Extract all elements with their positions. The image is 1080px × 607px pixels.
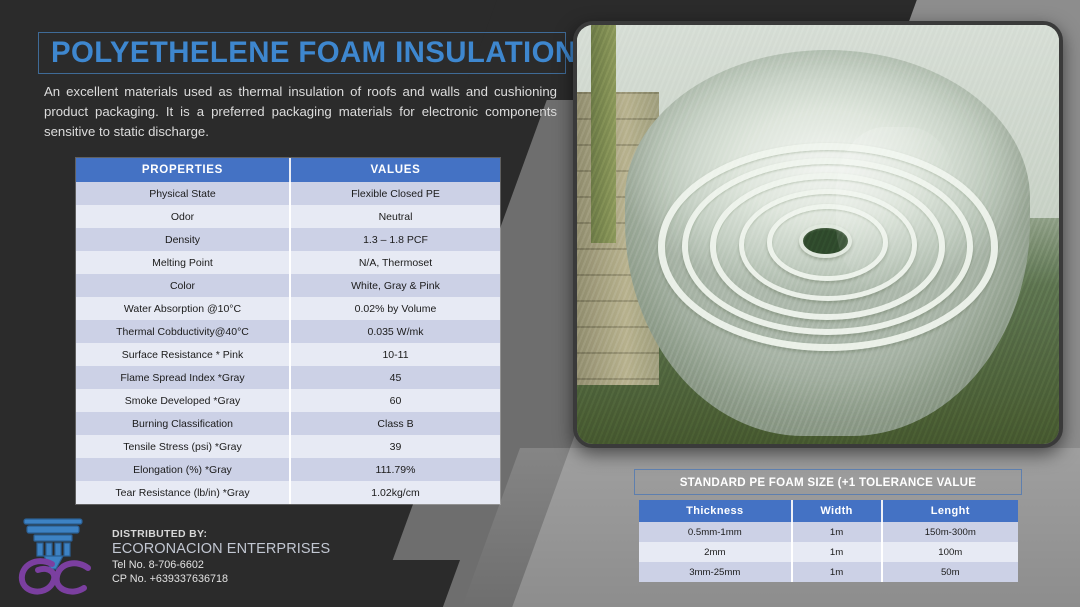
property-value: 39 bbox=[290, 435, 500, 458]
mobile-number: CP No. +639337636718 bbox=[112, 573, 330, 585]
size-table-header-row: Thickness Width Lenght bbox=[639, 500, 1018, 522]
table-row: Thermal Cobductivity@40°C0.035 W/mk bbox=[76, 320, 500, 343]
thickness-value: 2mm bbox=[639, 542, 792, 562]
table-row: ColorWhite, Gray & Pink bbox=[76, 274, 500, 297]
property-value: Flexible Closed PE bbox=[290, 182, 500, 205]
property-value: 1.3 – 1.8 PCF bbox=[290, 228, 500, 251]
table-row: 3mm-25mm1m50m bbox=[639, 562, 1018, 582]
property-name: Density bbox=[76, 228, 290, 251]
width-value: 1m bbox=[792, 562, 882, 582]
properties-table: PROPERTIES VALUES Physical StateFlexible… bbox=[76, 158, 500, 504]
property-name: Elongation (%) *Gray bbox=[76, 458, 290, 481]
length-value: 50m bbox=[882, 562, 1018, 582]
property-value: Class B bbox=[290, 412, 500, 435]
page-title-box: POLYETHELENE FOAM INSULATION bbox=[38, 32, 566, 74]
length-value: 100m bbox=[882, 542, 1018, 562]
standard-size-table: Thickness Width Lenght 0.5mm-1mm1m150m-3… bbox=[639, 500, 1018, 582]
table-row: Tear Resistance (lb/in) *Gray1.02kg/cm bbox=[76, 481, 500, 504]
slide-root: POLYETHELENE FOAM INSULATION An excellen… bbox=[0, 0, 1080, 607]
property-name: Flame Spread Index *Gray bbox=[76, 366, 290, 389]
table-row: 0.5mm-1mm1m150m-300m bbox=[639, 522, 1018, 542]
property-name: Color bbox=[76, 274, 290, 297]
length-col-header: Lenght bbox=[882, 500, 1018, 522]
table-row: Water Absorption @10°C0.02% by Volume bbox=[76, 297, 500, 320]
company-name: ECORONACION ENTERPRISES bbox=[112, 541, 330, 557]
size-table-heading-box: STANDARD PE FOAM SIZE (+1 TOLERANCE VALU… bbox=[634, 469, 1022, 495]
property-value: 111.79% bbox=[290, 458, 500, 481]
ecoronacion-logo-icon bbox=[14, 512, 98, 598]
table-row: Flame Spread Index *Gray45 bbox=[76, 366, 500, 389]
table-row: Surface Resistance * Pink10-11 bbox=[76, 343, 500, 366]
property-name: Smoke Developed *Gray bbox=[76, 389, 290, 412]
property-value: 0.02% by Volume bbox=[290, 297, 500, 320]
property-name: Melting Point bbox=[76, 251, 290, 274]
property-name: Surface Resistance * Pink bbox=[76, 343, 290, 366]
values-col-header: VALUES bbox=[290, 158, 500, 182]
property-value: 10-11 bbox=[290, 343, 500, 366]
property-value: Neutral bbox=[290, 205, 500, 228]
property-name: Tear Resistance (lb/in) *Gray bbox=[76, 481, 290, 504]
thickness-col-header: Thickness bbox=[639, 500, 792, 522]
intro-paragraph: An excellent materials used as thermal i… bbox=[44, 82, 557, 143]
table-row: Tensile Stress (psi) *Gray39 bbox=[76, 435, 500, 458]
page-title: POLYETHELENE FOAM INSULATION bbox=[51, 36, 577, 70]
table-row: Melting PointN/A, Thermoset bbox=[76, 251, 500, 274]
footer-text-block: DISTRIBUTED BY: ECORONACION ENTERPRISES … bbox=[112, 512, 330, 598]
property-name: Odor bbox=[76, 205, 290, 228]
property-value: 60 bbox=[290, 389, 500, 412]
product-photo-panel bbox=[573, 21, 1063, 448]
telephone-number: Tel No. 8-706-6602 bbox=[112, 559, 330, 571]
table-row: 2mm1m100m bbox=[639, 542, 1018, 562]
table-row: Smoke Developed *Gray60 bbox=[76, 389, 500, 412]
property-value: 0.035 W/mk bbox=[290, 320, 500, 343]
width-value: 1m bbox=[792, 542, 882, 562]
table-row: Burning ClassificationClass B bbox=[76, 412, 500, 435]
thickness-value: 0.5mm-1mm bbox=[639, 522, 792, 542]
table-row: Density1.3 – 1.8 PCF bbox=[76, 228, 500, 251]
properties-col-header: PROPERTIES bbox=[76, 158, 290, 182]
property-name: Burning Classification bbox=[76, 412, 290, 435]
length-value: 150m-300m bbox=[882, 522, 1018, 542]
property-name: Physical State bbox=[76, 182, 290, 205]
property-value: White, Gray & Pink bbox=[290, 274, 500, 297]
property-value: 1.02kg/cm bbox=[290, 481, 500, 504]
photo-grain bbox=[577, 25, 1059, 444]
property-name: Water Absorption @10°C bbox=[76, 297, 290, 320]
product-photo bbox=[577, 25, 1059, 444]
table-row: Elongation (%) *Gray111.79% bbox=[76, 458, 500, 481]
company-logo bbox=[14, 512, 98, 598]
width-col-header: Width bbox=[792, 500, 882, 522]
property-name: Tensile Stress (psi) *Gray bbox=[76, 435, 290, 458]
property-value: 45 bbox=[290, 366, 500, 389]
properties-table-header-row: PROPERTIES VALUES bbox=[76, 158, 500, 182]
size-table-heading: STANDARD PE FOAM SIZE (+1 TOLERANCE VALU… bbox=[680, 476, 977, 489]
width-value: 1m bbox=[792, 522, 882, 542]
table-row: OdorNeutral bbox=[76, 205, 500, 228]
table-row: Physical StateFlexible Closed PE bbox=[76, 182, 500, 205]
distributed-by-label: DISTRIBUTED BY: bbox=[112, 528, 330, 540]
property-name: Thermal Cobductivity@40°C bbox=[76, 320, 290, 343]
footer: DISTRIBUTED BY: ECORONACION ENTERPRISES … bbox=[14, 512, 330, 598]
thickness-value: 3mm-25mm bbox=[639, 562, 792, 582]
property-value: N/A, Thermoset bbox=[290, 251, 500, 274]
